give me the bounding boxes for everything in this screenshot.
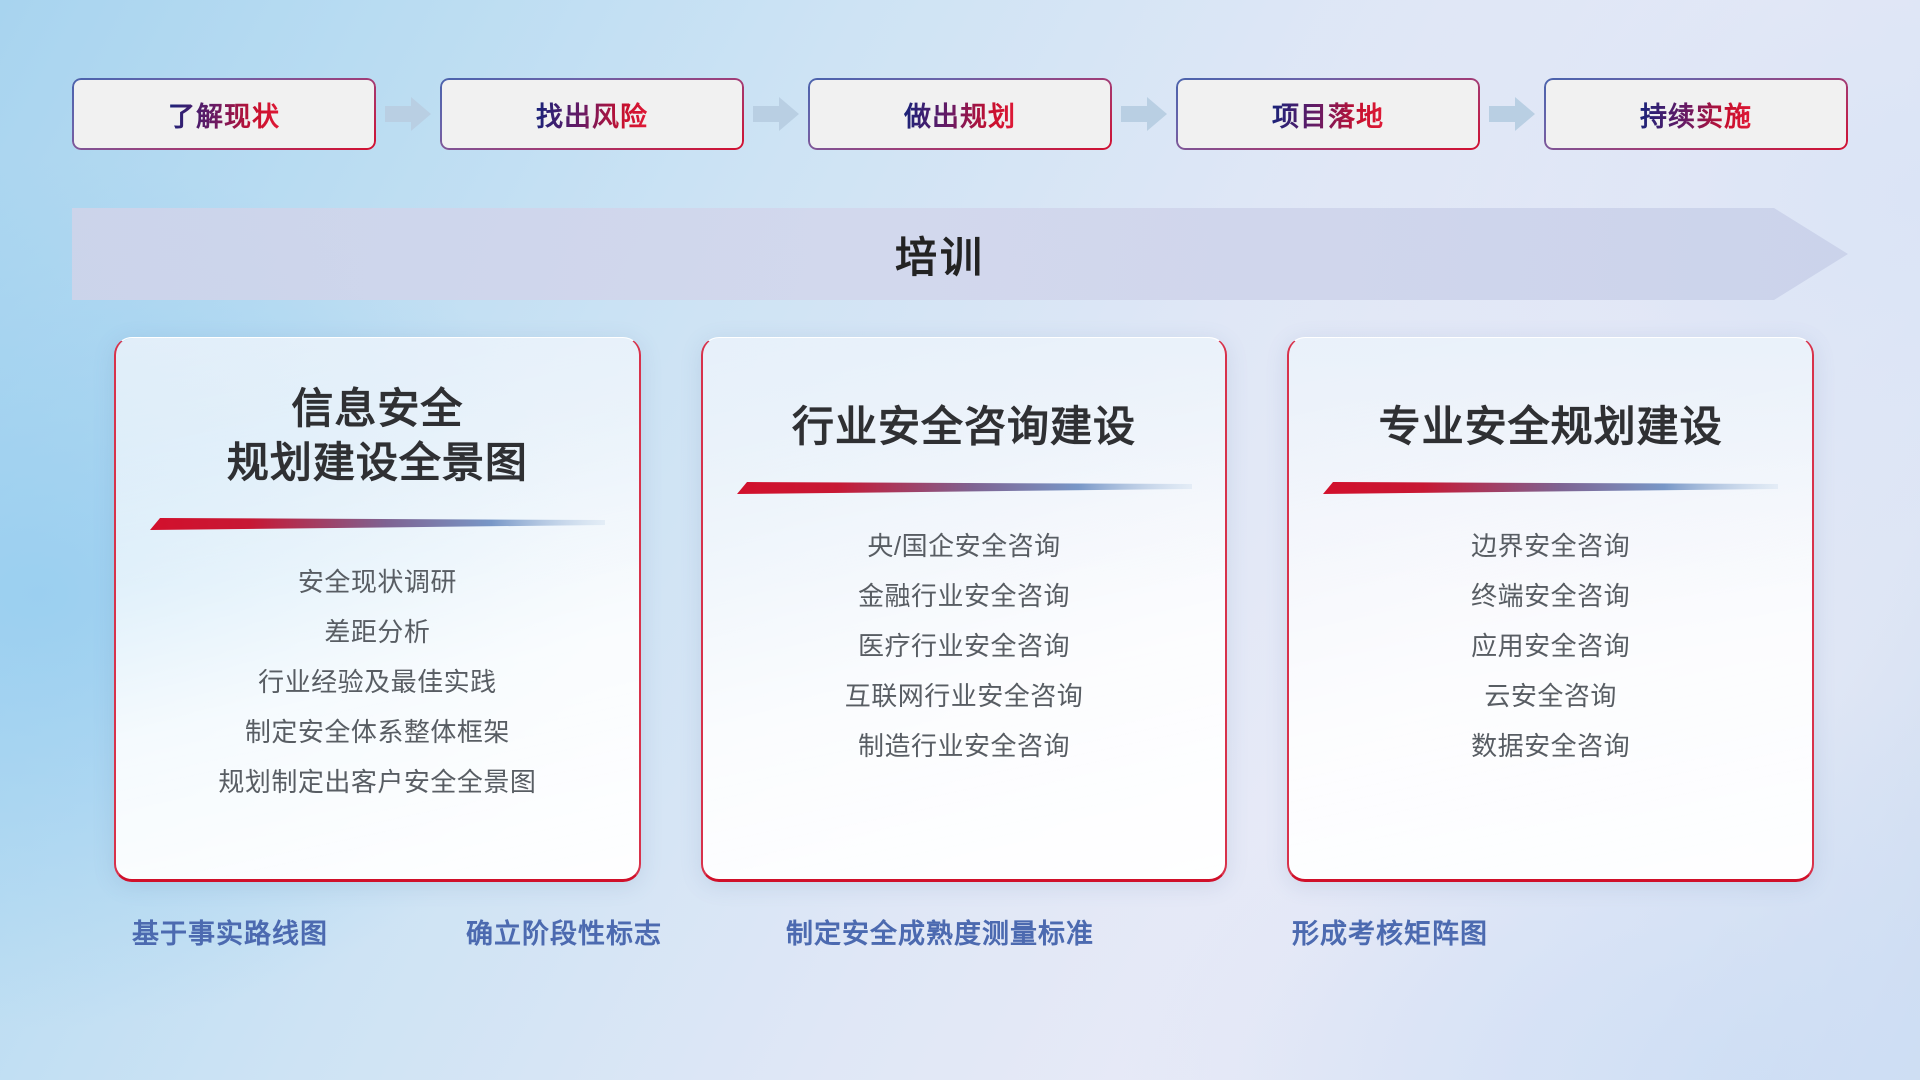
step-box-3[interactable]: 做出规划 [808, 78, 1112, 150]
slide-canvas: 了解现状 找出风险 做出规划 项目落地 [0, 0, 1920, 1080]
list-item: 数据安全咨询 [1289, 721, 1812, 771]
step-label: 做出规划 [904, 95, 1016, 134]
card-divider [150, 516, 605, 533]
step-box-1[interactable]: 了解现状 [72, 78, 376, 150]
footer-caption-2: 确立阶段性标志 [466, 912, 662, 951]
card-row: 信息安全 规划建设全景图 [114, 337, 1814, 882]
list-item: 安全现状调研 [116, 557, 639, 607]
step-box-2[interactable]: 找出风险 [440, 78, 744, 150]
list-item: 规划制定出客户安全全景图 [116, 757, 639, 807]
card-item-list: 边界安全咨询 终端安全咨询 应用安全咨询 云安全咨询 数据安全咨询 [1289, 521, 1812, 771]
process-step-bar: 了解现状 找出风险 做出规划 项目落地 [72, 78, 1848, 150]
step-arrow-icon-3 [1112, 78, 1176, 150]
list-item: 医疗行业安全咨询 [703, 621, 1226, 671]
footer-caption-4: 形成考核矩阵图 [1292, 912, 1488, 951]
training-banner: 培训 [72, 208, 1848, 300]
card-title: 行业安全咨询建设 [792, 400, 1136, 454]
list-item: 终端安全咨询 [1289, 571, 1812, 621]
list-item: 央/国企安全咨询 [703, 521, 1226, 571]
list-item: 应用安全咨询 [1289, 621, 1812, 671]
card-information-security-blueprint[interactable]: 信息安全 规划建设全景图 [114, 337, 641, 882]
step-label: 项目落地 [1272, 95, 1384, 134]
step-box-4[interactable]: 项目落地 [1176, 78, 1480, 150]
list-item: 制定安全体系整体框架 [116, 707, 639, 757]
step-label: 找出风险 [536, 95, 648, 134]
step-arrow-icon-4 [1480, 78, 1544, 150]
card-professional-security-planning[interactable]: 专业安全规划建设 [1287, 337, 1814, 882]
card-title: 专业安全规划建设 [1379, 400, 1723, 454]
list-item: 差距分析 [116, 607, 639, 657]
step-box-5[interactable]: 持续实施 [1544, 78, 1848, 150]
list-item: 行业经验及最佳实践 [116, 657, 639, 707]
card-divider [1323, 480, 1778, 497]
footer-caption-1: 基于事实路线图 [132, 912, 328, 951]
card-item-list: 安全现状调研 差距分析 行业经验及最佳实践 制定安全体系整体框架 规划制定出客户… [116, 557, 639, 807]
list-item: 互联网行业安全咨询 [703, 671, 1226, 721]
step-label: 持续实施 [1640, 95, 1752, 134]
card-industry-security-consulting[interactable]: 行业安全咨询建设 [701, 337, 1228, 882]
list-item: 云安全咨询 [1289, 671, 1812, 721]
list-item: 边界安全咨询 [1289, 521, 1812, 571]
list-item: 金融行业安全咨询 [703, 571, 1226, 621]
step-arrow-icon-1 [376, 78, 440, 150]
banner-title: 培训 [72, 208, 1848, 300]
list-item: 制造行业安全咨询 [703, 721, 1226, 771]
step-arrow-icon-2 [744, 78, 808, 150]
step-label: 了解现状 [168, 95, 280, 134]
card-item-list: 央/国企安全咨询 金融行业安全咨询 医疗行业安全咨询 互联网行业安全咨询 制造行… [703, 521, 1226, 771]
footer-caption-row: 基于事实路线图 确立阶段性标志 制定安全成熟度测量标准 形成考核矩阵图 [0, 912, 1920, 968]
card-title: 信息安全 规划建设全景图 [227, 382, 528, 490]
footer-caption-3: 制定安全成熟度测量标准 [786, 912, 1094, 951]
card-divider [737, 480, 1192, 497]
